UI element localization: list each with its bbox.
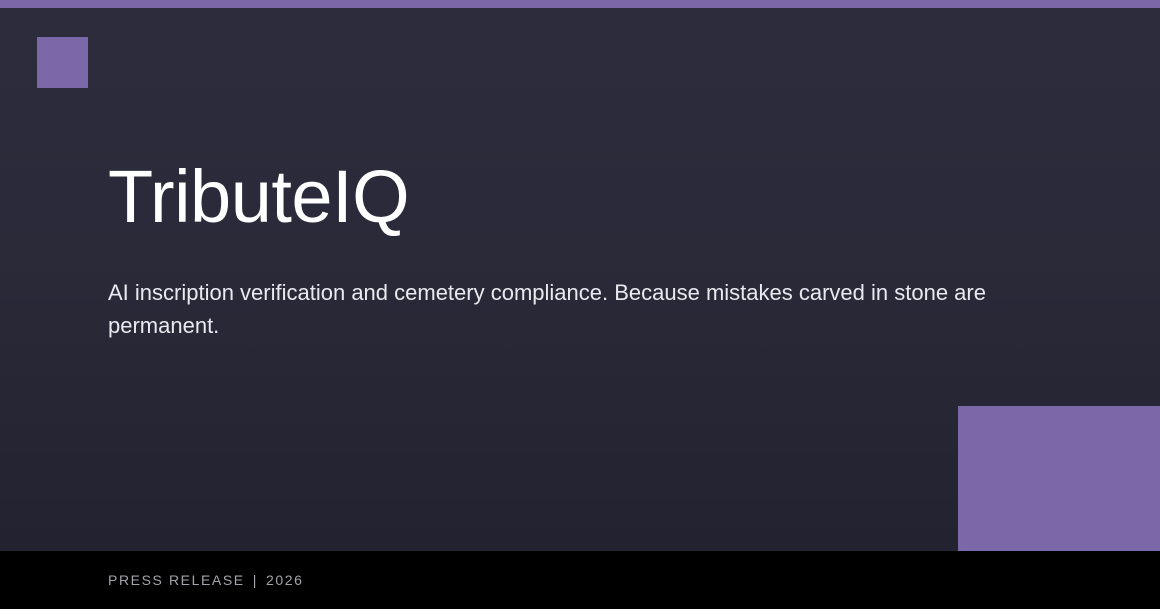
top-accent-bar: [0, 0, 1160, 8]
page-title: TributeIQ: [108, 160, 1008, 234]
accent-block-decoration: [958, 406, 1160, 551]
footer-separator: |: [245, 572, 266, 588]
slide-footer: PRESS RELEASE|2026: [0, 551, 1160, 609]
slide-content: TributeIQ AI inscription verification an…: [108, 160, 1008, 343]
accent-square-decoration: [37, 37, 88, 88]
footer-year: 2026: [266, 572, 304, 588]
slide-subtitle: AI inscription verification and cemetery…: [108, 234, 988, 343]
footer-label: PRESS RELEASE: [108, 572, 245, 588]
footer-meta: PRESS RELEASE|2026: [108, 572, 304, 588]
presentation-slide: TributeIQ AI inscription verification an…: [0, 0, 1160, 609]
slide-body: TributeIQ AI inscription verification an…: [0, 0, 1160, 551]
